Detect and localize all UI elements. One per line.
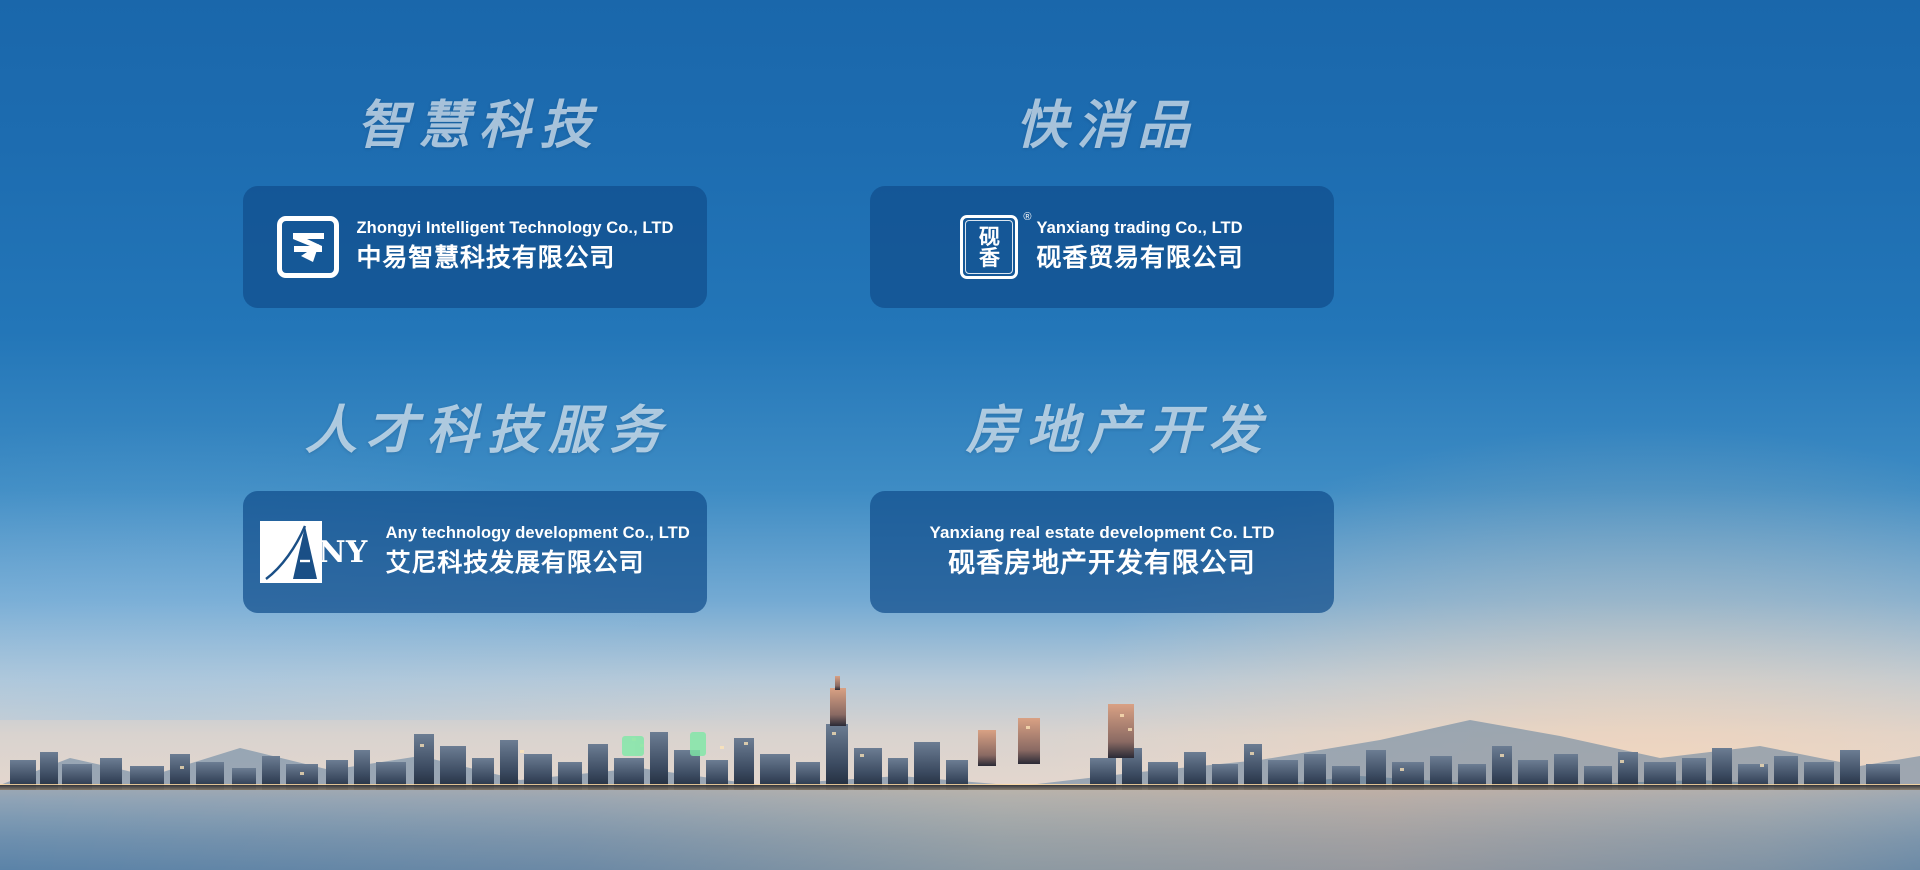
zhongyi-logo bbox=[277, 216, 339, 278]
any-mark-icon bbox=[260, 521, 322, 583]
company-card[interactable]: 砚 香 ® Yanxiang trading Co., LTD 砚香贸易有限公司 bbox=[870, 186, 1334, 308]
seal-glyph-top: 砚 bbox=[979, 226, 1000, 247]
section-title: 房地产开发 bbox=[966, 405, 1334, 457]
company-name-en: Any technology development Co., LTD bbox=[386, 524, 690, 544]
any-logo-text: NY bbox=[318, 535, 367, 570]
section-title: 快消品 bbox=[1016, 100, 1334, 152]
company-card[interactable]: Zhongyi Intelligent Technology Co., LTD … bbox=[243, 186, 707, 308]
company-names: Zhongyi Intelligent Technology Co., LTD … bbox=[357, 219, 674, 274]
company-name-cn: 砚香贸易有限公司 bbox=[1036, 243, 1243, 274]
company-names: Yanxiang real estate development Co. LTD… bbox=[929, 523, 1274, 581]
company-name-en: Zhongyi Intelligent Technology Co., LTD bbox=[357, 219, 674, 239]
yanxiang-seal-logo: 砚 香 ® bbox=[960, 215, 1018, 279]
section-title: 智慧科技 bbox=[357, 100, 707, 152]
zhongyi-mark-icon bbox=[277, 216, 339, 278]
section-fast-moving-consumer-goods: 快消品 砚 香 ® Yanxiang trading Co., LTD 砚香贸易… bbox=[870, 100, 1334, 308]
company-card[interactable]: Yanxiang real estate development Co. LTD… bbox=[870, 491, 1334, 613]
company-name-en: Yanxiang real estate development Co. LTD bbox=[929, 523, 1274, 543]
company-names: Yanxiang trading Co., LTD 砚香贸易有限公司 bbox=[1036, 219, 1243, 274]
section-talent-technology-services: 人才科技服务 NY Any technology devel bbox=[243, 405, 707, 613]
section-smart-technology: 智慧科技 Zhongyi Intelligent Technology Co.,… bbox=[243, 100, 707, 308]
section-real-estate-development: 房地产开发 Yanxiang real estate development C… bbox=[870, 405, 1334, 613]
company-name-cn: 中易智慧科技有限公司 bbox=[357, 243, 674, 274]
any-logo: NY bbox=[260, 521, 367, 583]
company-name-en: Yanxiang trading Co., LTD bbox=[1036, 219, 1243, 239]
company-name-cn: 艾尼科技发展有限公司 bbox=[386, 548, 690, 579]
company-name-cn: 砚香房地产开发有限公司 bbox=[948, 547, 1255, 581]
company-names: Any technology development Co., LTD 艾尼科技… bbox=[386, 524, 690, 579]
company-card[interactable]: NY Any technology development Co., LTD 艾… bbox=[243, 491, 707, 613]
seal-glyph-bottom: 香 bbox=[979, 247, 1000, 268]
section-title: 人才科技服务 bbox=[305, 405, 707, 457]
registered-mark-icon: ® bbox=[1023, 212, 1031, 223]
sections-grid: 智慧科技 Zhongyi Intelligent Technology Co.,… bbox=[0, 0, 1920, 870]
